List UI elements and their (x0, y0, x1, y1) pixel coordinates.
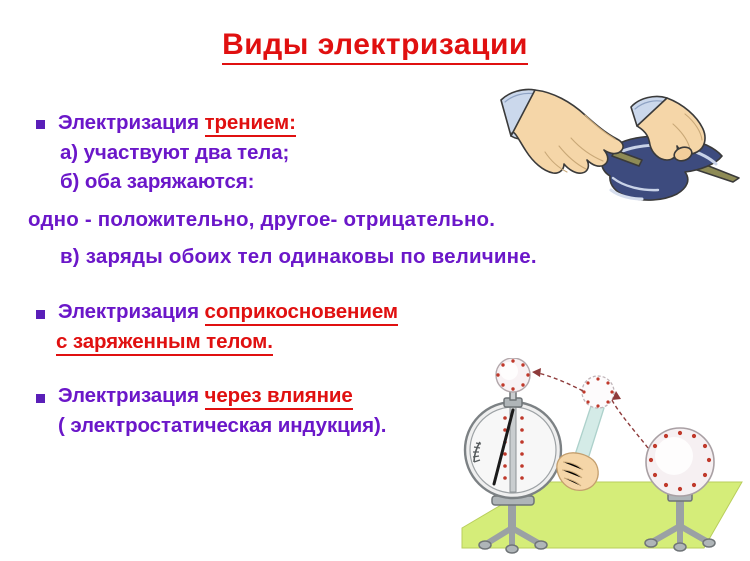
bullet-friction-keyword: трением: (205, 111, 296, 137)
paragraph-polarity-text: одно - положительно, другое- отрицательн… (28, 208, 495, 231)
bullet-influence-line-2: ( электростатическая индукция). (58, 414, 386, 438)
bullet-contact-lead: Электризация (58, 300, 205, 323)
bullet-contact-keyword: соприкосновением (205, 300, 398, 326)
bullet-contact-line-1: Электризация соприкосновением (58, 300, 398, 324)
hands-rubbing-rod-illustration (487, 82, 745, 204)
bullet-friction-line-a-text: а) участвуют два тела; (60, 141, 289, 164)
page-title-text: Виды электризации (222, 28, 528, 65)
bullet-marker-influence (36, 394, 45, 403)
bullet-influence-keyword: через влияние (205, 384, 353, 410)
bullet-marker-friction (36, 120, 45, 129)
bullet-friction-line-a: а) участвуют два тела; (60, 141, 289, 165)
bullet-influence-line-2-text: ( электростатическая индукция). (58, 414, 386, 437)
bullet-friction-line-b-text: б) оба заряжаются: (60, 170, 254, 193)
page-title: Виды электризации (0, 28, 750, 62)
paragraph-magnitude-text: в) заряды обоих тел одинаковы по величин… (60, 245, 537, 268)
bullet-friction-line-b: б) оба заряжаются: (60, 170, 254, 194)
bullet-marker-contact (36, 310, 45, 319)
electroscope-scene-illustration (452, 358, 750, 558)
bullet-friction-line-1: Электризация трением: (58, 111, 296, 135)
paragraph-magnitude: в) заряды обоих тел одинаковы по величин… (60, 245, 537, 269)
slide-canvas: Виды электризации Электризация трением: … (0, 0, 750, 561)
bullet-influence-line-1: Электризация через влияние (58, 384, 353, 408)
bullet-contact-line-2: с заряженным телом. (56, 330, 273, 354)
paragraph-polarity: одно - положительно, другое- отрицательн… (28, 208, 495, 232)
bullet-contact-line-2-text: с заряженным телом. (56, 330, 273, 356)
bullet-influence-lead: Электризация (58, 384, 205, 407)
bullet-friction-lead: Электризация (58, 111, 205, 134)
